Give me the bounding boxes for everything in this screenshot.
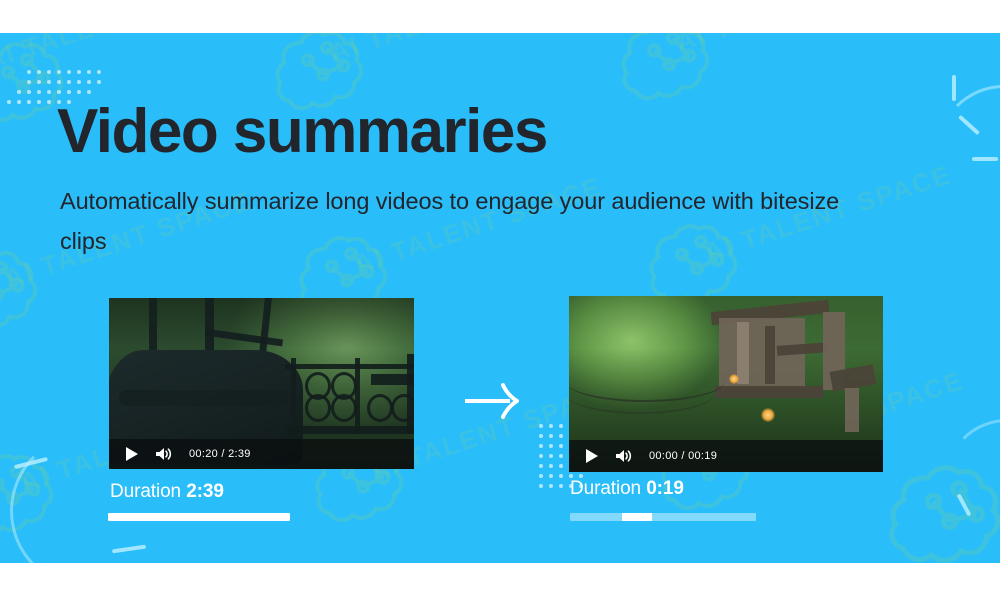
decor-dash [952,75,956,101]
scene-detail [291,358,296,434]
watermark-text: AI TALENT SPACE [672,33,928,58]
scene-detail [391,394,414,422]
volume-icon[interactable] [611,444,635,468]
video-player-summary[interactable]: 00:00 / 00:19 [569,296,883,472]
duration-value: 2:39 [186,481,224,502]
video-player-source[interactable]: 00:20 / 2:39 [109,298,414,469]
scene-detail [119,390,289,406]
scene-detail [331,394,357,422]
progress-bar-source[interactable] [108,513,290,521]
decor-arc [944,419,1000,545]
duration-label-source: Duration 2:39 [110,481,224,503]
duration-label-summary: Duration 0:19 [570,478,684,500]
play-icon[interactable] [119,442,143,466]
watermark-text: AI TALENT SPACE [0,33,238,76]
brain-logo-icon [0,417,90,559]
video-time-display: 00:20 / 2:39 [189,448,251,460]
video-controls-summary: 00:00 / 00:19 [569,440,883,472]
decor-dash [112,545,146,554]
duration-word: Duration [110,481,181,502]
scene-detail [371,374,414,385]
video-time-display: 00:00 / 00:19 [649,450,717,462]
scene-detail [367,394,393,422]
arrow-right-icon [463,381,525,421]
scene-detail [569,372,715,414]
scene-detail [845,388,859,432]
scene-detail [149,298,157,356]
video-controls-source: 00:20 / 2:39 [109,439,414,469]
duration-value: 0:19 [646,478,684,499]
brain-logo-icon [598,33,746,125]
slide-body: AI TALENT SPACE AI TALENT SPACE [0,33,1000,563]
scene-detail [285,426,414,434]
video-card-source: 00:20 / 2:39 [109,298,414,469]
slide-canvas: AI TALENT SPACE AI TALENT SPACE [0,0,1000,600]
decor-dash [958,115,980,135]
decor-dash [957,493,972,516]
decor-dash [14,457,48,469]
video-card-summary: 00:00 / 00:19 [569,296,883,472]
scene-detail [765,326,775,384]
scene-detail [355,358,360,434]
page-title: Video summaries [57,99,547,164]
scene-detail [761,408,775,422]
decor-arc [936,85,1000,221]
volume-icon[interactable] [151,442,175,466]
scene-detail [729,374,739,384]
page-subtitle: Automatically summarize long videos to e… [60,181,880,262]
progress-bar-summary[interactable] [570,513,756,521]
play-icon[interactable] [579,444,603,468]
decor-dash [972,157,998,161]
watermark-text: AI TALENT SPACE [326,33,582,68]
brain-logo-icon [869,427,1000,563]
scene-detail [715,386,823,398]
scene-detail [737,322,749,384]
scene-detail [285,364,414,369]
duration-word: Duration [570,478,641,499]
scene-detail [305,394,331,422]
progress-bar-highlight [622,513,652,521]
